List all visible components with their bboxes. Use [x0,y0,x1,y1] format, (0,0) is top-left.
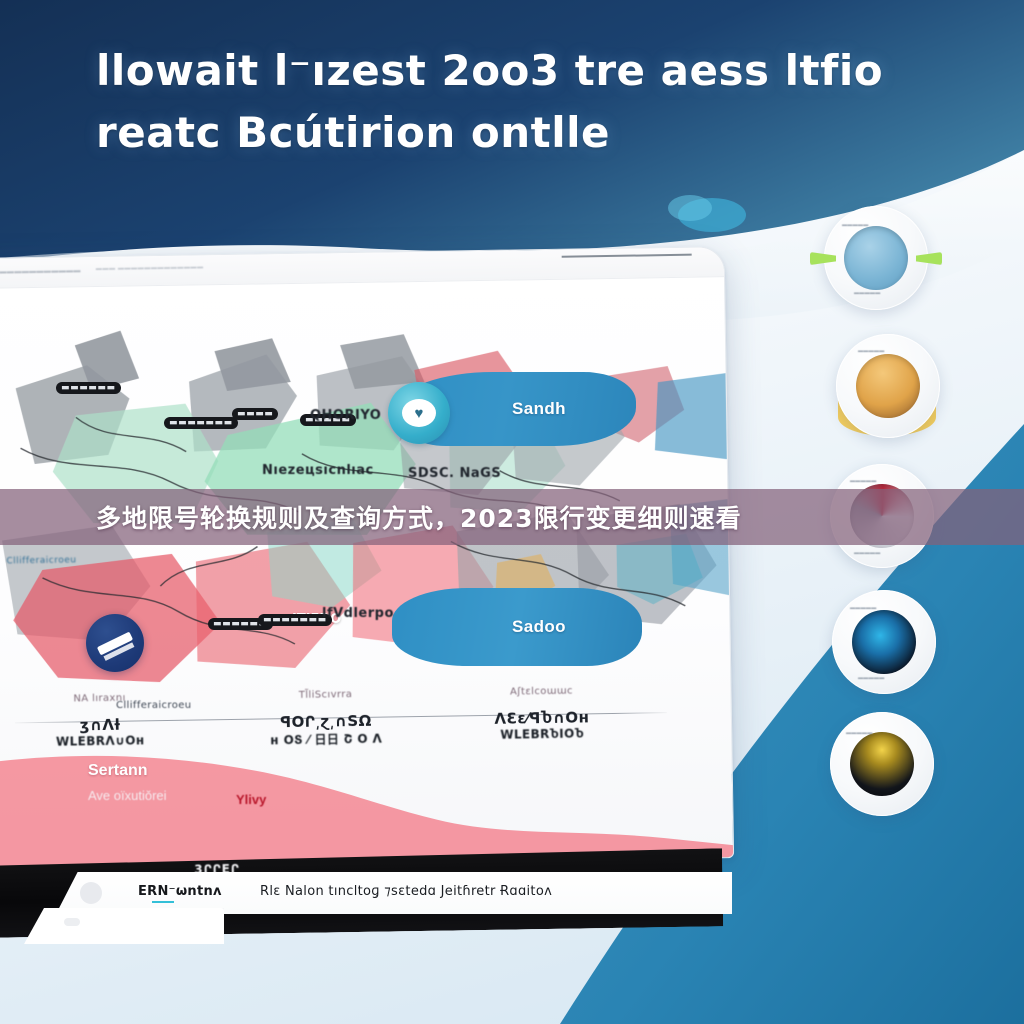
pink-label-subtitle: Ave oïxutiǒrei [88,788,167,803]
blue-emblem-badge[interactable]: ▬▬▬▬▬ ▬▬▬▬▬ [824,206,928,310]
map-text-label: SDSC. NaGS [408,466,501,481]
toolbar-left-text: ▮▬▬▬▬▬▬▬▬▬▬▬▬ [0,266,81,275]
stat-value-secondary: WLEBRႦIOႦ [457,726,627,743]
map-region-label: Sadoo [512,617,566,637]
toolbar-item-primary[interactable]: ERN⁻ωntnʌ [138,884,222,899]
toolbar-rule [562,254,692,258]
map-text-label: QHORIYO [310,408,381,423]
night-globe-badge[interactable]: ▬▬▬▬▬ ▬▬▬▬▬ [832,590,936,694]
tablet-mockup: ▮▬▬▬▬▬▬▬▬▬▬▬▬ ▬▬▬ ▬▬▬▬▬▬▬▬▬▬▬▬▬ [0,246,735,948]
header-title: llowait l⁻ızest 2oo3 tre aess ltfio reat… [96,40,896,164]
stat-column: Aʃtɛlcoɯɯc ɅԐɛ⁄ꟼႦ∩Oʜ WLEBRႦIOႦ [456,685,627,743]
badge-core [850,732,914,796]
map-region-label: Sandh [512,399,566,419]
caption-banner: 多地限号轮换规则及查询方式，2023限行变更细则速看 [0,489,1024,545]
no-entry-bar-icon [97,631,133,655]
stat-value-secondary: WLEBRɅ∪Oʜ [15,733,185,750]
badge-core [856,354,920,418]
pink-label-tag: Ylivy [236,792,266,807]
map-text-label: Nıezeцsıcnlıac [262,463,374,478]
pink-region-label: Sertann Ave oïxutiǒrei Ylivy [88,762,167,803]
heart-marker-inner: ♥ [402,399,436,427]
avatar [80,882,102,904]
badge-nub-left-icon [810,252,836,265]
toolbar-secondary-text: ▬▬▬ ▬▬▬▬▬▬▬▬▬▬▬▬▬ [96,264,204,272]
stat-key: Aʃtɛlcoɯɯc [456,685,626,699]
stat-value-secondary: ʜ OՏ ⁄ 日日 Շ O Ʌ [241,729,411,749]
screen-bottom-toolbar: ERN⁻ωntnʌ Rlɛ Nalon tıncltoɡ̧ ⁊sɛtedɑ Je… [56,872,732,914]
torch-emblem-badge[interactable]: ▬▬▬▬▬ [830,712,934,816]
map-region-sadoo[interactable]: Sadoo [392,588,642,666]
map-chip-label: ▬▬▬▬ [232,408,278,420]
badge-nub-right-icon [916,252,942,265]
header-title-line-1: llowait l⁻ızest 2oo3 tre aess ltfio [96,40,896,102]
caption-title: 多地限号轮换规则及查询方式，2023限行变更细则速看 [96,499,742,535]
screen-bottom-tab[interactable] [24,908,224,944]
heart-icon: ♥ [415,406,424,421]
heart-marker-icon[interactable]: ♥ [388,382,450,444]
pink-label-title: Sertann [88,762,167,780]
no-entry-sign-icon[interactable] [86,614,144,672]
map-chip-label: ▬▬▬▬▬▬ [56,382,121,394]
stat-column: Tl̃liScıvrra ꟼOՐ͵ɀ͵∩SΩ ʜ OՏ ⁄ 日日 Շ O Ʌ [240,688,411,749]
badge-core [852,610,916,674]
tab-indicator [64,918,80,926]
header-title-line-2: reatc Bcútirion ontlle [96,102,896,164]
gold-medal-badge[interactable]: ▬▬▬▬▬ [836,334,940,438]
stats-row: NA lıraxnı ʒ∩Ʌƚ WLEBRɅ∪Oʜ Tl̃liScıvrra ꟼ… [4,684,685,765]
banner-canvas: llowait l⁻ızest 2oo3 tre aess ltfio reat… [0,0,1024,1024]
toolbar-item-underline [152,901,174,903]
map-micro-label: Cllifferaicroeu [6,555,76,566]
stat-key: Tl̃liScıvrra [240,688,410,702]
map-chip-label: ▬▬▬▬▬▬▬ [164,417,238,429]
toolbar-item-secondary[interactable]: Rlɛ Nalon tıncltoɡ̧ ⁊sɛtedɑ Jeitɦretr Ɍɑ… [260,884,552,899]
map-text-label: lfVdlerpo [322,606,394,621]
map-chip-label: ▬▬▬▬▬▬▬ [258,614,332,626]
map-text-label: Cllifferaicroeu [116,700,192,711]
badge-core [844,226,908,290]
